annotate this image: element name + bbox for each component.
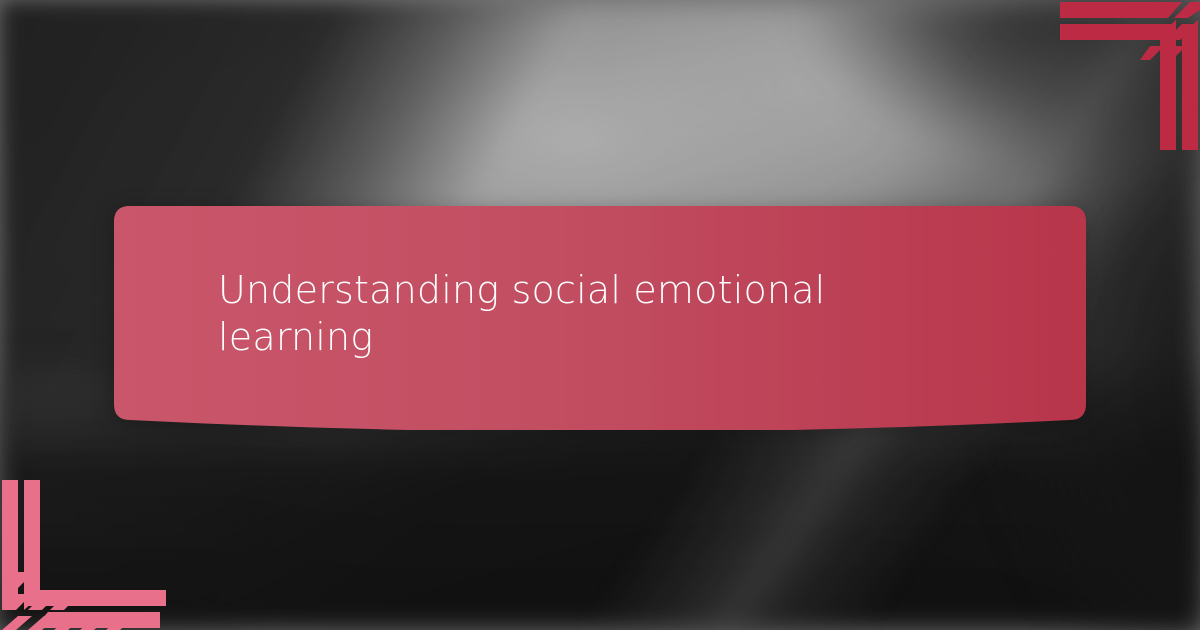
share-card-canvas: Understanding social emotional learning [0,0,1200,630]
card-title-text: Understanding social emotional learning [100,198,1100,430]
title-card: Understanding social emotional learning [100,198,1100,430]
